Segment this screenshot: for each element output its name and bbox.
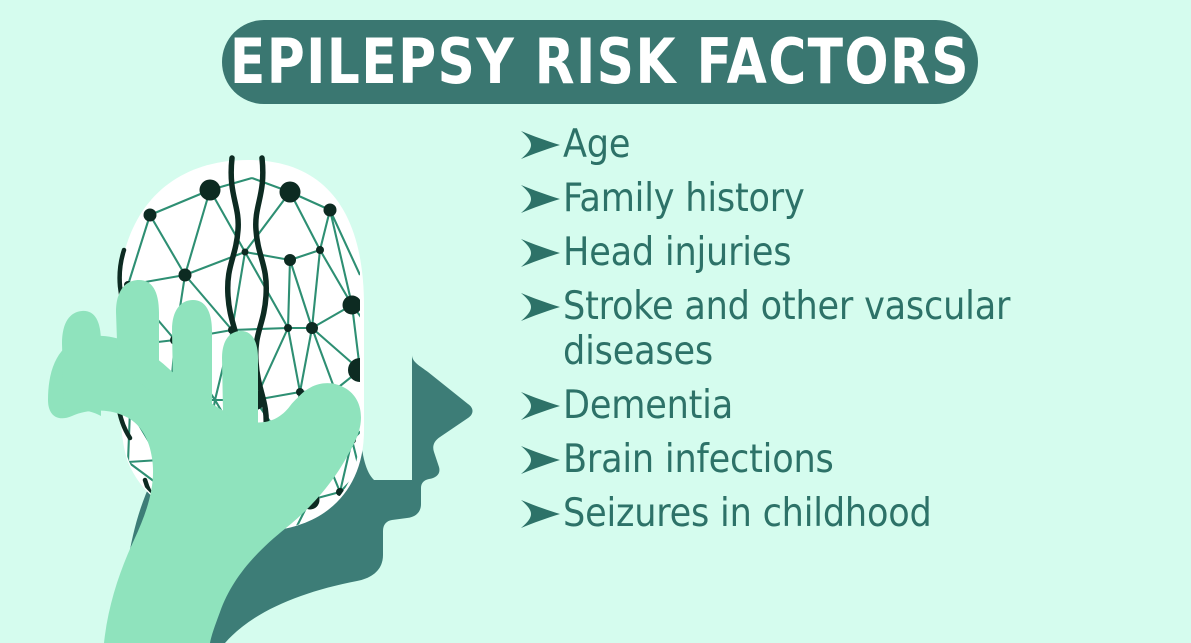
list-item[interactable]: Stroke and other vascular diseases (519, 284, 1159, 374)
arrow-bullet-icon (519, 287, 563, 327)
risk-factor-list: Age Family history Head injuries Stroke … (519, 122, 1159, 545)
list-item-label: Family history (563, 176, 805, 221)
list-item-label: Brain infections (563, 437, 834, 482)
list-item-label: Age (563, 122, 630, 167)
title-pill: EPILEPSY RISK FACTORS (222, 20, 978, 104)
arrow-bullet-icon (519, 125, 563, 165)
arrow-bullet-icon (519, 494, 563, 534)
list-item[interactable]: Seizures in childhood (519, 491, 1159, 536)
list-item[interactable]: Dementia (519, 383, 1159, 428)
infographic-canvas: EPILEPSY RISK FACTORS (0, 0, 1191, 643)
arrow-bullet-icon (519, 179, 563, 219)
list-item[interactable]: Family history (519, 176, 1159, 221)
list-item-label: Stroke and other vascular diseases (563, 284, 1118, 374)
head-brain-illustration (0, 100, 500, 643)
list-item-label: Head injuries (563, 230, 791, 275)
page-title: EPILEPSY RISK FACTORS (230, 31, 970, 93)
list-item[interactable]: Head injuries (519, 230, 1159, 275)
list-item-label: Seizures in childhood (563, 491, 932, 536)
list-item-label: Dementia (563, 383, 733, 428)
arrow-bullet-icon (519, 440, 563, 480)
list-item[interactable]: Age (519, 122, 1159, 167)
arrow-bullet-icon (519, 233, 563, 273)
arrow-bullet-icon (519, 386, 563, 426)
list-item[interactable]: Brain infections (519, 437, 1159, 482)
